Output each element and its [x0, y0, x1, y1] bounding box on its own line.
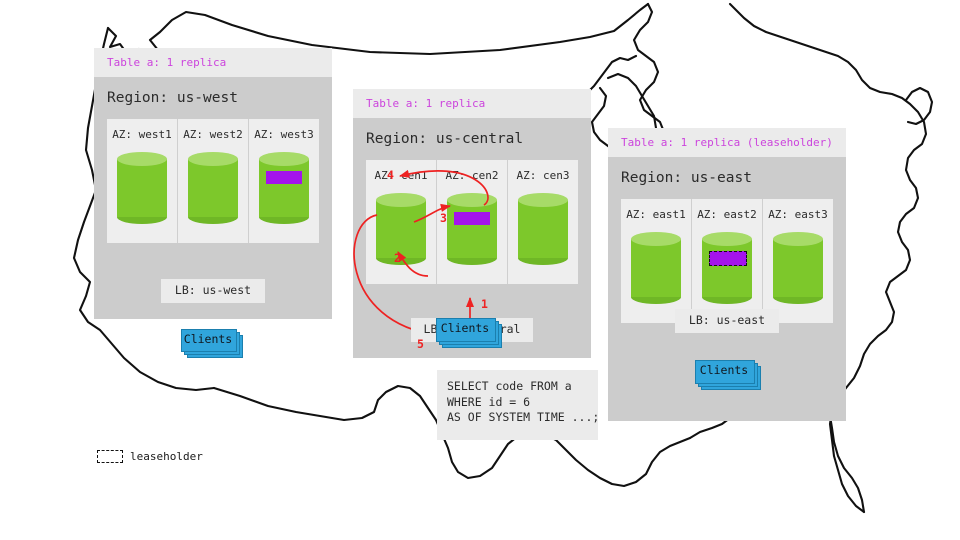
- az-label: AZ: cen3: [508, 160, 578, 181]
- cylinder-top: [702, 232, 752, 246]
- az-label: AZ: cen1: [366, 160, 436, 181]
- legend-leaseholder: leaseholder: [97, 450, 203, 463]
- az-row-us-east: AZ: east1 AZ: east2: [621, 199, 833, 323]
- clients-us-west[interactable]: Clients: [181, 329, 245, 357]
- az-row-us-west: AZ: west1 AZ: west2 AZ: [107, 119, 319, 243]
- range-replica[interactable]: [454, 212, 490, 225]
- region-header-us-central: Table a: 1 replica: [353, 89, 591, 118]
- node-cylinder[interactable]: [518, 193, 568, 265]
- az-label: AZ: east2: [692, 199, 762, 220]
- arrow-number-5: 5: [417, 339, 424, 351]
- region-panel-us-west: Table a: 1 replica Region: us-west AZ: w…: [94, 48, 332, 319]
- node-cylinder[interactable]: [117, 152, 167, 224]
- diagram-canvas: Table a: 1 replica Region: us-west AZ: w…: [0, 0, 960, 540]
- node-cylinder[interactable]: [259, 152, 309, 224]
- cylinder-body: [773, 239, 823, 297]
- region-title-us-east: Region: us-east: [608, 157, 846, 199]
- az-east2[interactable]: AZ: east2: [691, 199, 762, 323]
- leaseholder-swatch-icon: [97, 450, 123, 463]
- region-header-us-east: Table a: 1 replica (leaseholder): [608, 128, 846, 157]
- cylinder-body: [259, 159, 309, 217]
- clients-label: Clients: [181, 329, 235, 350]
- cylinder-body: [631, 239, 681, 297]
- load-balancer-us-east[interactable]: LB: us-east: [675, 309, 779, 333]
- clients-label: Clients: [436, 318, 494, 340]
- region-title-us-central: Region: us-central: [353, 118, 591, 160]
- legend-label: leaseholder: [130, 451, 203, 462]
- region-title-us-west: Region: us-west: [94, 77, 332, 119]
- region-panel-us-central: Table a: 1 replica Region: us-central AZ…: [353, 89, 591, 358]
- clients-us-central[interactable]: Clients: [436, 318, 506, 348]
- cylinder-body: [117, 159, 167, 217]
- cylinder-top: [188, 152, 238, 166]
- cylinder-top: [376, 193, 426, 207]
- node-cylinder[interactable]: [447, 193, 497, 265]
- cylinder-body: [447, 200, 497, 258]
- load-balancer-us-west[interactable]: LB: us-west: [161, 279, 265, 303]
- node-cylinder[interactable]: [188, 152, 238, 224]
- node-cylinder[interactable]: [773, 232, 823, 304]
- node-cylinder[interactable]: [376, 193, 426, 265]
- arrow-number-3: 3: [440, 213, 447, 225]
- clients-us-east[interactable]: Clients: [695, 360, 765, 390]
- az-label: AZ: west2: [178, 119, 248, 140]
- cylinder-top: [773, 232, 823, 246]
- cylinder-body: [376, 200, 426, 258]
- az-cen1[interactable]: AZ: cen1: [366, 160, 436, 284]
- az-label: AZ: west3: [249, 119, 319, 140]
- node-cylinder[interactable]: [631, 232, 681, 304]
- sql-query-box: SELECT code FROM a WHERE id = 6 AS OF SY…: [437, 370, 598, 440]
- az-west3[interactable]: AZ: west3: [248, 119, 319, 243]
- clients-label: Clients: [695, 360, 753, 382]
- az-label: AZ: cen2: [437, 160, 507, 181]
- az-label: AZ: east1: [621, 199, 691, 220]
- arrow-number-4: 4: [387, 170, 394, 182]
- az-label: AZ: west1: [107, 119, 177, 140]
- cylinder-top: [117, 152, 167, 166]
- cylinder-top: [631, 232, 681, 246]
- az-east1[interactable]: AZ: east1: [621, 199, 691, 323]
- cylinder-body: [188, 159, 238, 217]
- arrow-number-2: 2: [394, 253, 401, 265]
- cylinder-body: [702, 239, 752, 297]
- cylinder-body: [518, 200, 568, 258]
- az-cen3[interactable]: AZ: cen3: [507, 160, 578, 284]
- region-header-us-west: Table a: 1 replica: [94, 48, 332, 77]
- cylinder-top: [518, 193, 568, 207]
- cylinder-top: [447, 193, 497, 207]
- region-panel-us-east: Table a: 1 replica (leaseholder) Region:…: [608, 128, 846, 421]
- az-east3[interactable]: AZ: east3: [762, 199, 833, 323]
- az-west2[interactable]: AZ: west2: [177, 119, 248, 243]
- range-replica[interactable]: [266, 171, 302, 184]
- az-label: AZ: east3: [763, 199, 833, 220]
- az-west1[interactable]: AZ: west1: [107, 119, 177, 243]
- arrow-number-1: 1: [481, 299, 488, 311]
- cylinder-top: [259, 152, 309, 166]
- range-replica-leaseholder[interactable]: [709, 251, 747, 266]
- node-cylinder[interactable]: [702, 232, 752, 304]
